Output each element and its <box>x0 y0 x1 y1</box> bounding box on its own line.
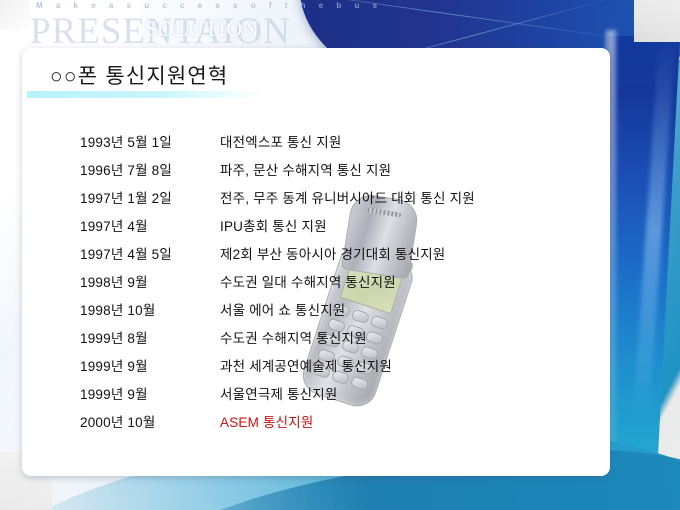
timeline-row: 1998년 9월수도권 일대 수해지역 통신지원 <box>80 271 600 299</box>
timeline-row: 2000년 10월ASEM 통신지원 <box>80 411 600 439</box>
timeline-row-description: 대전엑스포 통신 지원 <box>220 131 341 151</box>
timeline-list: 1993년 5월 1일대전엑스포 통신 지원1996년 7월 8일파주, 문산 … <box>80 131 600 439</box>
timeline-row-description: 서울연극제 통신지원 <box>220 383 338 403</box>
timeline-row-description: 전주, 무주 동계 유니버시아드 대회 통신 지원 <box>220 187 475 207</box>
timeline-row-date: 1993년 5월 1일 <box>80 131 220 151</box>
timeline-row-description: 수도권 수해지역 통신지원 <box>220 327 367 347</box>
timeline-row-date: 1997년 1월 2일 <box>80 187 220 207</box>
timeline-row-description: IPU총회 통신 지원 <box>220 215 327 235</box>
corner-grey-top-right <box>634 0 680 42</box>
title-accent-rule <box>27 91 265 98</box>
timeline-row-date: 1997년 4월 <box>80 215 220 235</box>
timeline-row-date: 1999년 9월 <box>80 355 220 375</box>
timeline-row-date: 1998년 10월 <box>80 299 220 319</box>
timeline-row-date: 1999년 9월 <box>80 383 220 403</box>
content-card: ○○폰 통신지원연혁 1993년 5월 1일대전엑스포 통신 지원1996년 7… <box>22 48 610 476</box>
timeline-row-date: 2000년 10월 <box>80 411 220 431</box>
page-title: ○○폰 통신지원연혁 <box>50 60 228 90</box>
timeline-row-date: 1997년 4월 5일 <box>80 243 220 263</box>
presentation-slide: M a k e a s u c c e s s o f t h e b u s … <box>0 0 680 510</box>
timeline-row: 1997년 1월 2일전주, 무주 동계 유니버시아드 대회 통신 지원 <box>80 187 600 215</box>
timeline-row-date: 1999년 8월 <box>80 327 220 347</box>
timeline-row: 1996년 7월 8일파주, 문산 수해지역 통신 지원 <box>80 159 600 187</box>
timeline-row-description: 파주, 문산 수해지역 통신 지원 <box>220 159 391 179</box>
timeline-row: 1997년 4월 5일제2회 부산 동아시아 경기대회 통신지원 <box>80 243 600 271</box>
timeline-row: 1999년 8월수도권 수해지역 통신지원 <box>80 327 600 355</box>
timeline-row: 1998년 10월서울 에어 쇼 통신지원 <box>80 299 600 327</box>
timeline-row-description: 제2회 부산 동아시아 경기대회 통신지원 <box>220 243 445 263</box>
timeline-row-description: 서울 에어 쇼 통신지원 <box>220 299 345 319</box>
background-overlay-wordmark: SOLUTION <box>145 16 259 42</box>
timeline-row-description: 과천 세계공연예술제 통신지원 <box>220 355 392 375</box>
timeline-row-description: ASEM 통신지원 <box>220 411 314 431</box>
timeline-row: 1999년 9월서울연극제 통신지원 <box>80 383 600 411</box>
timeline-row-date: 1998년 9월 <box>80 271 220 291</box>
background-tagline: M a k e a s u c c e s s o f t h e b u s <box>36 1 383 10</box>
corner-grey-top-left <box>0 0 30 30</box>
timeline-row-description: 수도권 일대 수해지역 통신지원 <box>220 271 396 291</box>
timeline-row: 1993년 5월 1일대전엑스포 통신 지원 <box>80 131 600 159</box>
timeline-row: 1997년 4월IPU총회 통신 지원 <box>80 215 600 243</box>
timeline-row-date: 1996년 7월 8일 <box>80 159 220 179</box>
timeline-row: 1999년 9월과천 세계공연예술제 통신지원 <box>80 355 600 383</box>
